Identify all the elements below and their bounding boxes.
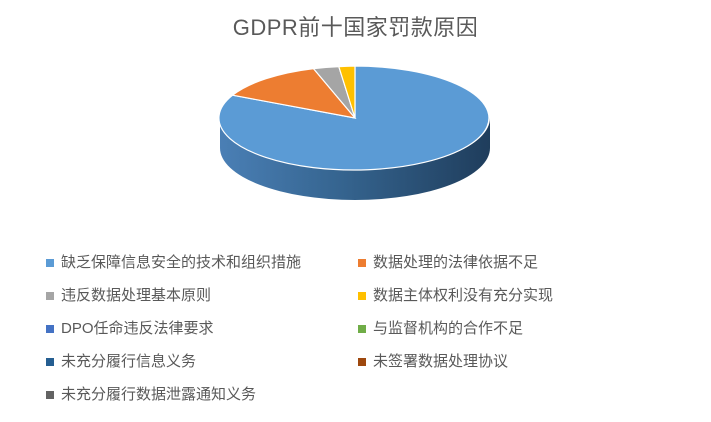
legend-swatch-icon-1 [358, 259, 366, 267]
legend-swatch-icon-7 [358, 358, 366, 366]
pie-plot-area [205, 52, 505, 217]
legend-item-0[interactable]: 缺乏保障信息安全的技术和组织措施 [46, 246, 358, 279]
legend-label-3: 数据主体权利没有充分实现 [373, 288, 553, 303]
pie-slices-top-face [219, 66, 489, 170]
legend-swatch-icon-6 [46, 358, 54, 366]
legend-label-4: DPO任命违反法律要求 [61, 321, 214, 336]
legend-item-4[interactable]: DPO任命违反法律要求 [46, 312, 358, 345]
legend-item-7[interactable]: 未签署数据处理协议 [358, 345, 666, 378]
chart-legend: 缺乏保障信息安全的技术和组织措施 数据处理的法律依据不足 违反数据处理基本原则 … [46, 246, 666, 411]
legend-swatch-icon-2 [46, 292, 54, 300]
legend-label-0: 缺乏保障信息安全的技术和组织措施 [61, 255, 301, 270]
legend-swatch-icon-3 [358, 292, 366, 300]
pie-chart-figure: GDPR前十国家罚款原因 [0, 0, 711, 422]
legend-item-5[interactable]: 与监督机构的合作不足 [358, 312, 666, 345]
legend-swatch-icon-5 [358, 325, 366, 333]
legend-label-5: 与监督机构的合作不足 [373, 321, 523, 336]
legend-swatch-icon-0 [46, 259, 54, 267]
chart-title: GDPR前十国家罚款原因 [0, 10, 711, 42]
legend-label-8: 未充分履行数据泄露通知义务 [61, 387, 256, 402]
legend-item-1[interactable]: 数据处理的法律依据不足 [358, 246, 666, 279]
legend-label-1: 数据处理的法律依据不足 [373, 255, 538, 270]
pie-svg [205, 52, 505, 217]
legend-item-3[interactable]: 数据主体权利没有充分实现 [358, 279, 666, 312]
legend-item-2[interactable]: 违反数据处理基本原则 [46, 279, 358, 312]
legend-swatch-icon-4 [46, 325, 54, 333]
legend-swatch-icon-8 [46, 391, 54, 399]
legend-label-7: 未签署数据处理协议 [373, 354, 508, 369]
legend-item-6[interactable]: 未充分履行信息义务 [46, 345, 358, 378]
legend-label-2: 违反数据处理基本原则 [61, 288, 211, 303]
legend-label-6: 未充分履行信息义务 [61, 354, 196, 369]
legend-item-8[interactable]: 未充分履行数据泄露通知义务 [46, 378, 358, 411]
